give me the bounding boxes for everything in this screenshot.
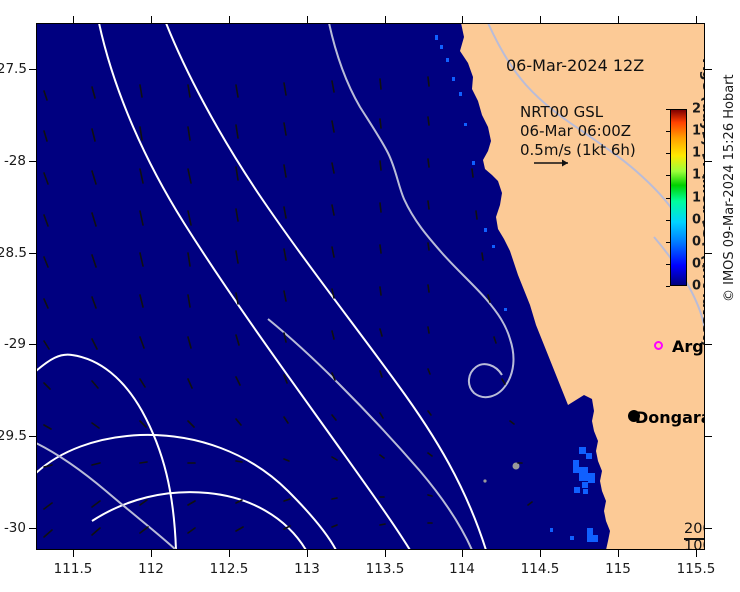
x-tick-top: [229, 16, 230, 23]
x-tick: [73, 550, 74, 557]
x-tick-label: 114.5: [521, 561, 560, 577]
x-tick: [151, 550, 152, 557]
y-tick-label: -28: [0, 153, 26, 169]
x-tick-top: [696, 16, 697, 23]
y-tick-label: -29.5: [0, 428, 26, 444]
colorbar-tick: [666, 109, 670, 110]
x-tick: [696, 550, 697, 557]
x-tick-label: 113.5: [366, 561, 405, 577]
colorbar-tick: [666, 242, 670, 243]
y-tick: [29, 161, 36, 162]
x-tick: [385, 550, 386, 557]
gap-pixel-2: [483, 479, 486, 482]
y-tick-right: [705, 436, 712, 437]
x-tick-top: [618, 16, 619, 23]
colorbar-tick: [666, 175, 670, 176]
x-tick-label: 112.5: [210, 561, 249, 577]
bathymetry-legend: 200m 1000m: [684, 521, 705, 550]
x-tick-label: 115: [605, 561, 631, 577]
x-tick-label: 111.5: [54, 561, 93, 577]
y-tick-right: [705, 344, 712, 345]
y-tick-right: [705, 528, 712, 529]
argo-marker-icon[interactable]: [654, 341, 663, 350]
x-tick-top: [307, 16, 308, 23]
x-tick: [540, 550, 541, 557]
colorbar-tick: [666, 153, 670, 154]
colorbar-tick: [666, 131, 670, 132]
x-tick-top: [385, 16, 386, 23]
velocity-timestamp: 06-Mar 06:00Z: [520, 122, 636, 141]
map-plot-area: 06-Mar-2024 12Z NRT00 GSL 06-Mar 06:00Z …: [36, 23, 705, 550]
x-tick: [229, 550, 230, 557]
y-tick-right: [705, 161, 712, 162]
x-tick-label: 115.5: [677, 561, 716, 577]
map-title-date: 06-Mar-2024 12Z: [506, 56, 644, 75]
y-tick: [29, 344, 36, 345]
credit-text: © IMOS 09-Mar-2024 15:26 Hobart: [722, 74, 737, 302]
x-tick-label: 114: [449, 561, 475, 577]
figure-root: 06-Mar-2024 12Z NRT00 GSL 06-Mar 06:00Z …: [0, 0, 740, 592]
x-tick-top: [73, 16, 74, 23]
colorbar-tick: [666, 264, 670, 265]
colorbar-gradient: [670, 109, 687, 286]
y-tick: [29, 69, 36, 70]
y-tick: [29, 253, 36, 254]
x-tick: [462, 550, 463, 557]
x-tick: [618, 550, 619, 557]
y-tick-label: -28.5: [0, 245, 26, 261]
velocity-legend-text: NRT00 GSL 06-Mar 06:00Z 0.5m/s (1kt 6h): [520, 103, 636, 160]
velocity-product: NRT00 GSL: [520, 103, 636, 122]
y-tick-label: -29: [0, 336, 26, 352]
y-tick-label: -30: [0, 520, 26, 536]
velocity-reference-arrow-icon: [532, 156, 578, 170]
colorbar-title: Age (days) of filled SST (wrt latest): [699, 59, 705, 347]
y-tick: [29, 528, 36, 529]
colorbar: 21.751.51.2510.750.50.250: [670, 109, 687, 286]
colorbar-tick: [666, 286, 670, 287]
x-tick-top: [540, 16, 541, 23]
x-tick-top: [151, 16, 152, 23]
x-tick-label: 113: [294, 561, 320, 577]
y-tick-label: -27.5: [0, 61, 26, 77]
x-tick-label: 112: [138, 561, 164, 577]
colorbar-tick: [666, 220, 670, 221]
x-tick-top: [462, 16, 463, 23]
x-tick: [307, 550, 308, 557]
bathymetry-200m-label: 200m: [684, 521, 705, 538]
bathymetry-200m-legend-line: [684, 538, 705, 540]
y-tick-right: [705, 253, 712, 254]
y-tick-right: [705, 69, 712, 70]
y-tick: [29, 436, 36, 437]
dongara-label: Dongara: [635, 408, 705, 427]
colorbar-tick: [666, 198, 670, 199]
